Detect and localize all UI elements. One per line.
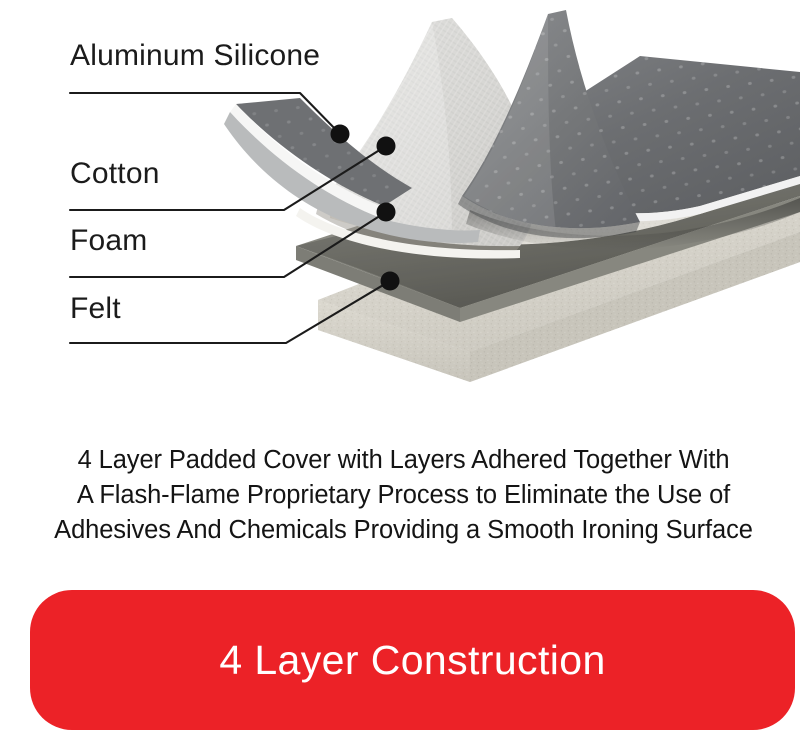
product-description: 4 Layer Padded Cover with Layers Adhered… xyxy=(0,443,807,548)
description-line-1: 4 Layer Padded Cover with Layers Adhered… xyxy=(0,443,807,478)
callout-dot-cotton xyxy=(377,137,396,156)
callout-label-felt: Felt xyxy=(70,294,121,324)
callout-dot-foam xyxy=(377,203,396,222)
construction-banner: 4 Layer Construction xyxy=(30,590,795,730)
callout-label-cotton: Cotton xyxy=(70,159,160,189)
callout-label-aluminum-silicone: Aluminum Silicone xyxy=(70,41,320,71)
callout-dot-aluminum-silicone xyxy=(331,125,350,144)
callout-label-foam: Foam xyxy=(70,226,148,256)
description-line-2: A Flash-Flame Proprietary Process to Eli… xyxy=(0,478,807,513)
layer-illustration-panel: Aluminum Silicone Cotton Foam Felt xyxy=(0,0,807,430)
callout-dot-felt xyxy=(381,272,400,291)
construction-banner-label: 4 Layer Construction xyxy=(219,640,605,681)
description-line-3: Adhesives And Chemicals Providing a Smoo… xyxy=(0,513,807,548)
